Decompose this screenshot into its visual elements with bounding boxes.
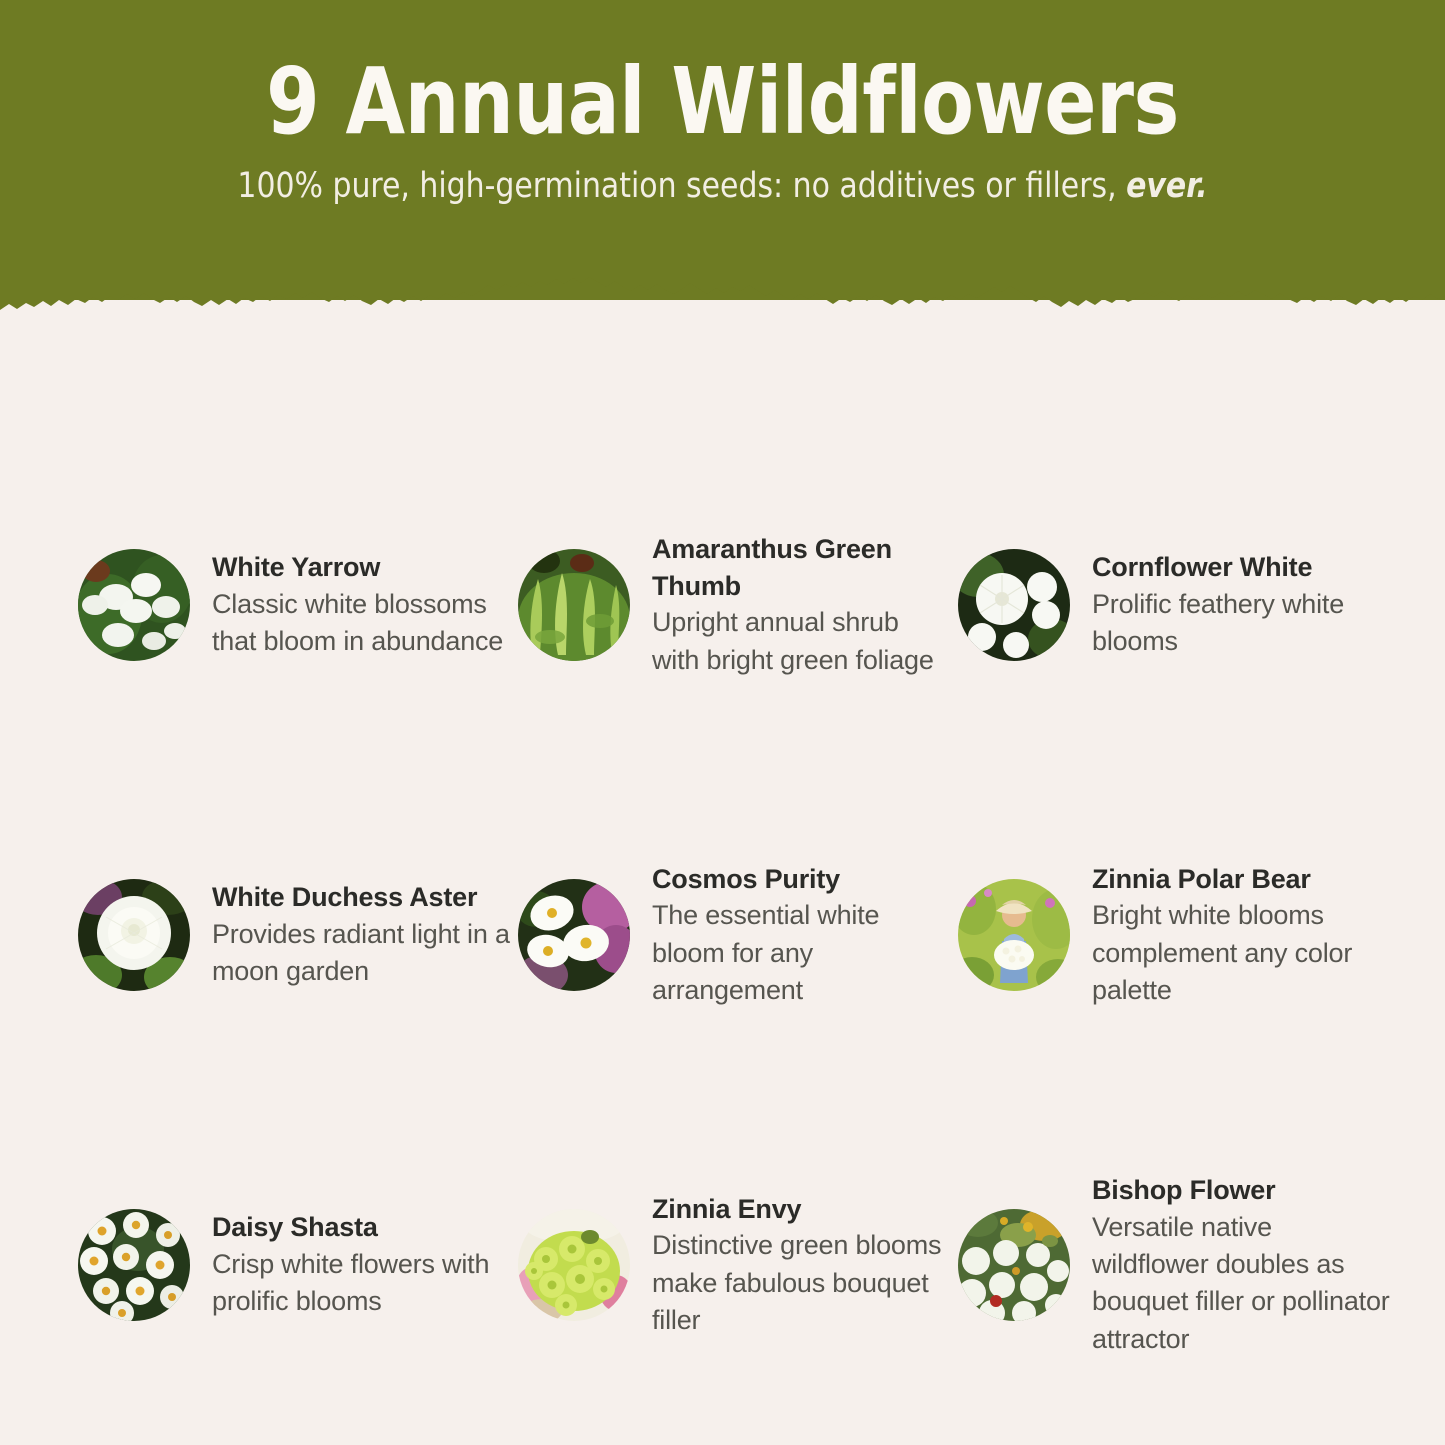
item-copy: Daisy Shasta Crisp white flowers with pr… <box>212 1209 512 1320</box>
list-item: Cosmos Purity The essential white bloom … <box>518 770 958 1100</box>
subtitle-emphasis-text: ever. <box>1126 166 1207 206</box>
item-name: White Duchess Aster <box>212 879 512 916</box>
amaranthus-green-thumb-photo <box>518 549 630 661</box>
white-duchess-aster-photo <box>78 879 190 991</box>
item-copy: White Yarrow Classic white blossoms that… <box>212 549 512 660</box>
zinnia-polar-bear-photo <box>958 879 1070 991</box>
item-name: White Yarrow <box>212 549 512 586</box>
item-name: Zinnia Polar Bear <box>1092 861 1392 898</box>
item-description: Crisp white flowers with prolific blooms <box>212 1246 512 1321</box>
subtitle-main-text: 100% pure, high-germination seeds: no ad… <box>237 166 1126 206</box>
page-subtitle: 100% pure, high-germination seeds: no ad… <box>36 149 1409 207</box>
list-item: Zinnia Polar Bear Bright white blooms co… <box>958 770 1398 1100</box>
list-item: White Yarrow Classic white blossoms that… <box>78 440 518 770</box>
list-item: Zinnia Envy Distinctive green blooms mak… <box>518 1100 958 1430</box>
item-description: Classic white blossoms that bloom in abu… <box>212 586 512 661</box>
item-description: Bright white blooms complement any color… <box>1092 897 1392 1009</box>
item-name: Amaranthus Green Thumb <box>652 531 952 604</box>
item-description: Prolific feathery white blooms <box>1092 586 1392 661</box>
list-item: Daisy Shasta Crisp white flowers with pr… <box>78 1100 518 1430</box>
item-name: Bishop Flower <box>1092 1172 1392 1209</box>
item-name: Cosmos Purity <box>652 861 952 898</box>
daisy-shasta-photo <box>78 1209 190 1321</box>
item-description: Versatile native wildflower doubles as b… <box>1092 1209 1392 1358</box>
cosmos-purity-photo <box>518 879 630 991</box>
item-copy: Zinnia Envy Distinctive green blooms mak… <box>652 1191 952 1339</box>
item-name: Zinnia Envy <box>652 1191 952 1228</box>
grid-row: White Duchess Aster Provides radiant lig… <box>0 770 1445 1100</box>
item-description: The essential white bloom for any arrang… <box>652 897 952 1009</box>
grid-row: White Yarrow Classic white blossoms that… <box>0 440 1445 770</box>
item-description: Upright annual shrub with bright green f… <box>652 604 952 679</box>
white-yarrow-photo <box>78 549 190 661</box>
header-banner: 9 Annual Wildflowers 100% pure, high-ger… <box>0 0 1445 300</box>
item-copy: Bishop Flower Versatile native wildflowe… <box>1092 1172 1392 1358</box>
item-copy: White Duchess Aster Provides radiant lig… <box>212 879 512 990</box>
list-item: Cornflower White Prolific feathery white… <box>958 440 1398 770</box>
cornflower-white-photo <box>958 549 1070 661</box>
item-description: Distinctive green blooms make fabulous b… <box>652 1227 952 1339</box>
list-item: White Duchess Aster Provides radiant lig… <box>78 770 518 1100</box>
header-text-block: 9 Annual Wildflowers 100% pure, high-ger… <box>0 0 1445 207</box>
page-title: 9 Annual Wildflowers <box>51 0 1395 149</box>
list-item: Bishop Flower Versatile native wildflowe… <box>958 1100 1398 1430</box>
wildflower-grid: White Yarrow Classic white blossoms that… <box>0 300 1445 1445</box>
item-description: Provides radiant light in a moon garden <box>212 916 512 991</box>
bishop-flower-photo <box>958 1209 1070 1321</box>
list-item: Amaranthus Green Thumb Upright annual sh… <box>518 440 958 770</box>
item-name: Daisy Shasta <box>212 1209 512 1246</box>
grid-row: Daisy Shasta Crisp white flowers with pr… <box>0 1100 1445 1430</box>
item-copy: Zinnia Polar Bear Bright white blooms co… <box>1092 861 1392 1009</box>
item-name: Cornflower White <box>1092 549 1392 586</box>
item-copy: Cornflower White Prolific feathery white… <box>1092 549 1392 660</box>
item-copy: Amaranthus Green Thumb Upright annual sh… <box>652 531 952 679</box>
item-copy: Cosmos Purity The essential white bloom … <box>652 861 952 1009</box>
zinnia-envy-photo <box>518 1209 630 1321</box>
